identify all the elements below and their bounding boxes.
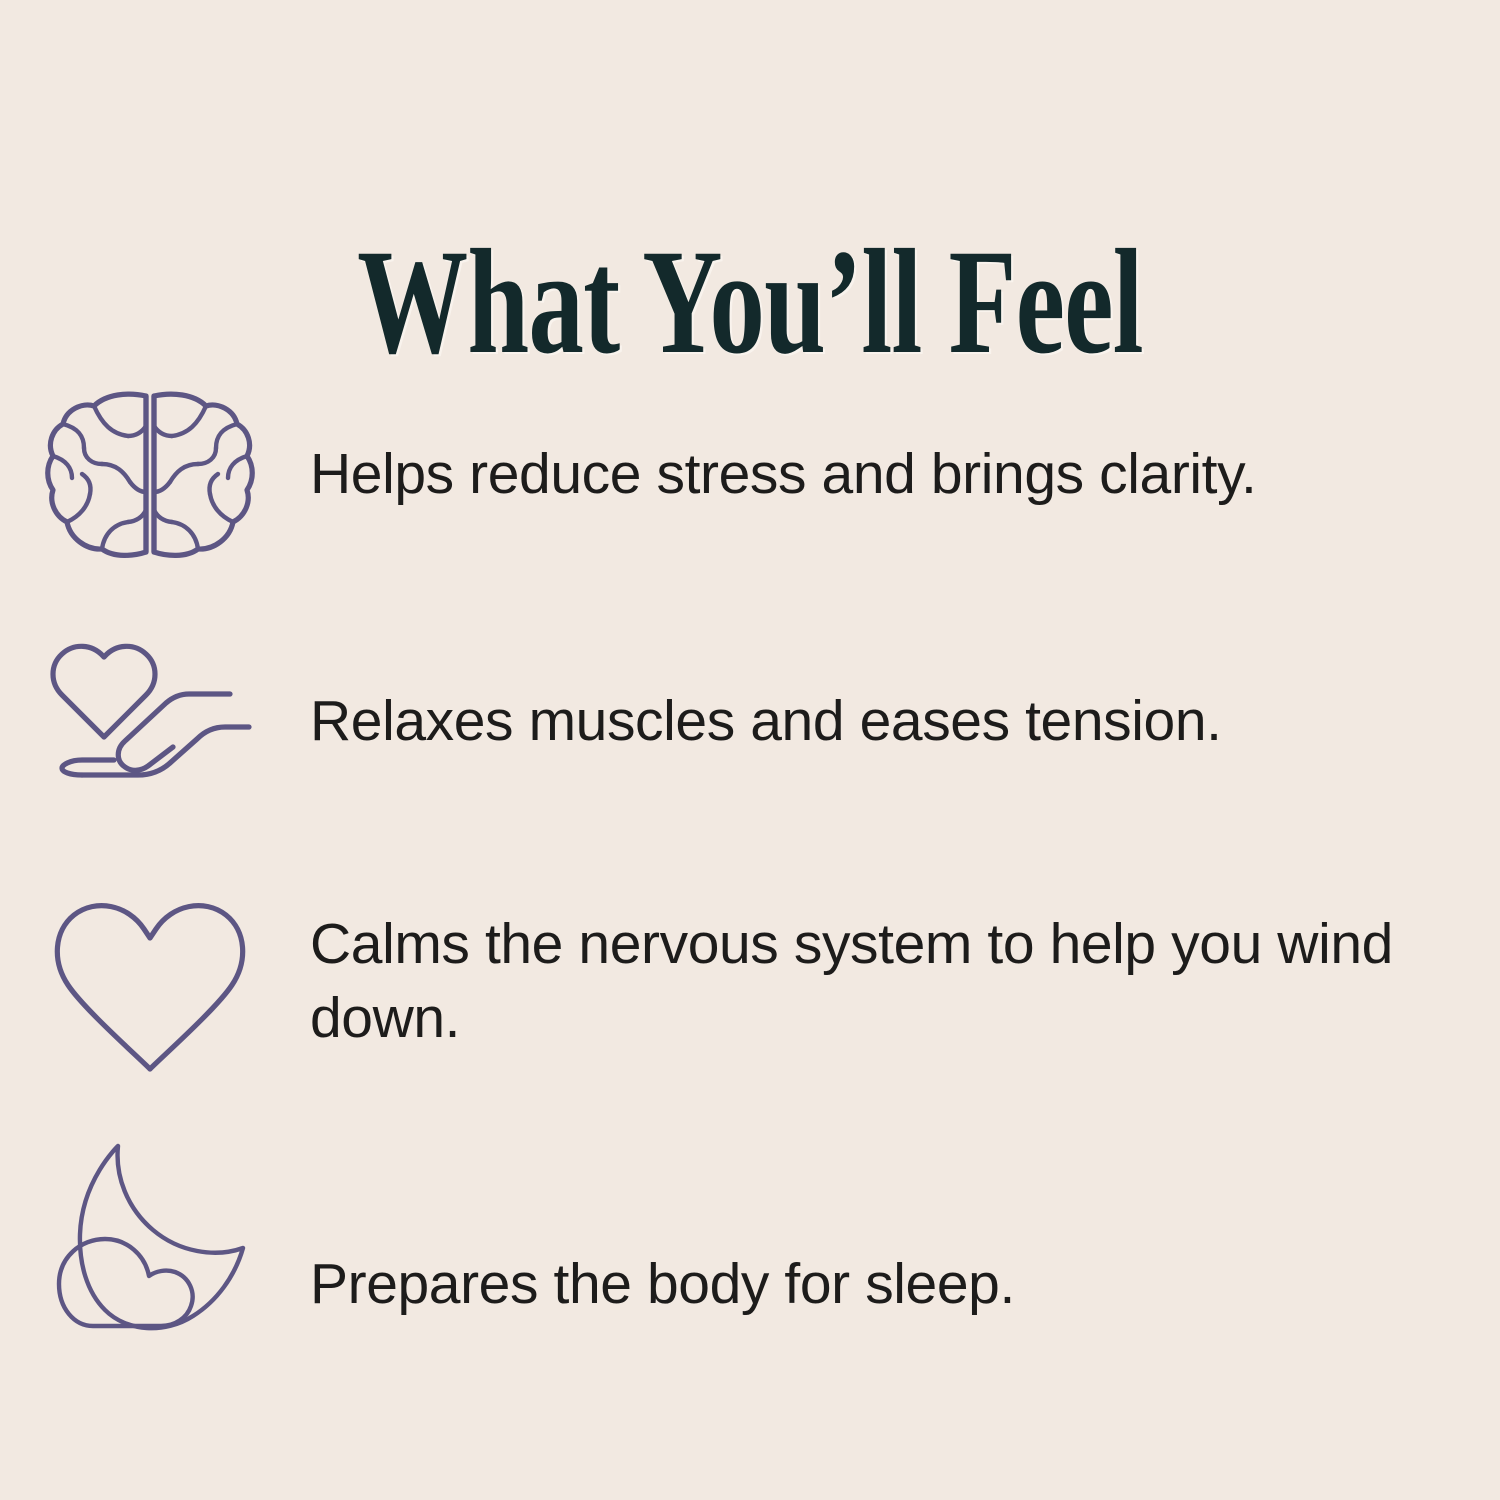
heart-in-hand-icon — [0, 641, 300, 801]
brain-icon — [0, 386, 300, 562]
benefit-text: Calms the nervous system to help you win… — [300, 907, 1500, 1055]
list-item: Prepares the body for sleep. — [0, 1116, 1500, 1366]
list-item: Calms the nervous system to help you win… — [0, 846, 1500, 1116]
list-item: Relaxes muscles and eases tension. — [0, 596, 1500, 846]
benefit-text: Helps reduce stress and brings clarity. — [300, 437, 1500, 511]
list-item: Helps reduce stress and brings clarity. — [0, 352, 1500, 596]
benefits-infographic: What You’ll Feel — [0, 0, 1500, 1500]
heart-icon — [0, 897, 300, 1075]
benefits-list: Helps reduce stress and brings clarity. … — [0, 352, 1500, 1366]
benefit-text: Relaxes muscles and eases tension. — [300, 684, 1500, 758]
benefit-text: Prepares the body for sleep. — [300, 1247, 1500, 1321]
moon-cloud-icon — [0, 1132, 300, 1338]
